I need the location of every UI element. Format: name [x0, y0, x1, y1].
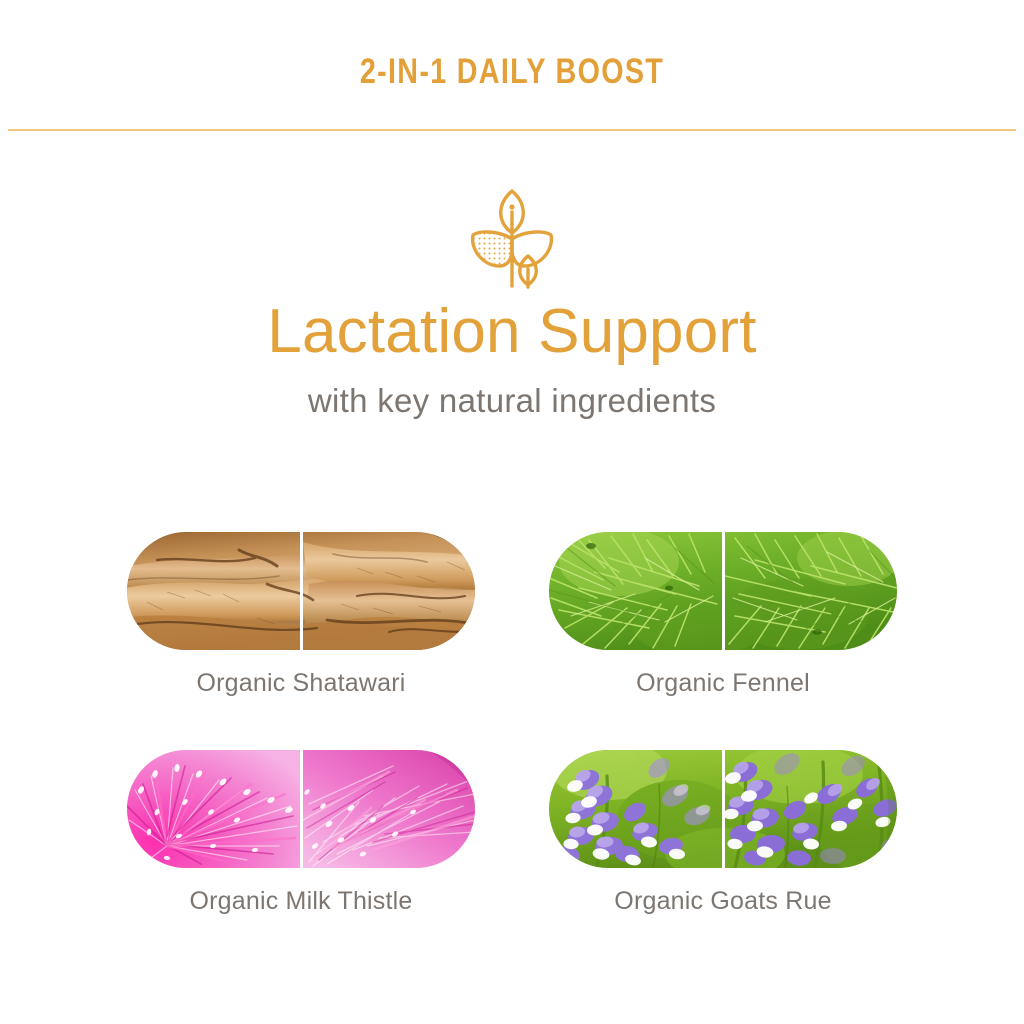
page-subtitle: with key natural ingredients [0, 382, 1024, 420]
page-title: Lactation Support [0, 296, 1024, 367]
ingredient-card-milk-thistle[interactable]: Organic Milk Thistle [84, 750, 518, 930]
ingredient-card-goats-rue[interactable]: Organic Goats Rue [506, 750, 940, 930]
shatawari-root-photo [127, 532, 475, 650]
ingredient-card-fennel[interactable]: Organic Fennel [506, 532, 940, 712]
ingredient-label: Organic Goats Rue [506, 887, 940, 916]
fennel-frond-photo [549, 532, 897, 650]
ingredient-label: Organic Milk Thistle [84, 887, 518, 916]
header-title: 2-IN-1 DAILY BOOST [92, 52, 932, 92]
milk-thistle-flower-photo [127, 750, 475, 868]
capsule-divider [300, 532, 303, 650]
ingredient-label: Organic Fennel [506, 669, 940, 698]
sprout-plant-icon [462, 186, 562, 290]
page-header: 2-IN-1 DAILY BOOST [0, 0, 1024, 131]
capsule-divider [722, 532, 725, 650]
capsule-divider [300, 750, 303, 868]
ingredient-grid: Organic Shatawari [0, 532, 1024, 952]
header-divider [8, 129, 1016, 131]
capsule-divider [722, 750, 725, 868]
ingredient-label: Organic Shatawari [84, 669, 518, 698]
goats-rue-flower-photo [549, 750, 897, 868]
ingredient-card-shatawari[interactable]: Organic Shatawari [84, 532, 518, 712]
